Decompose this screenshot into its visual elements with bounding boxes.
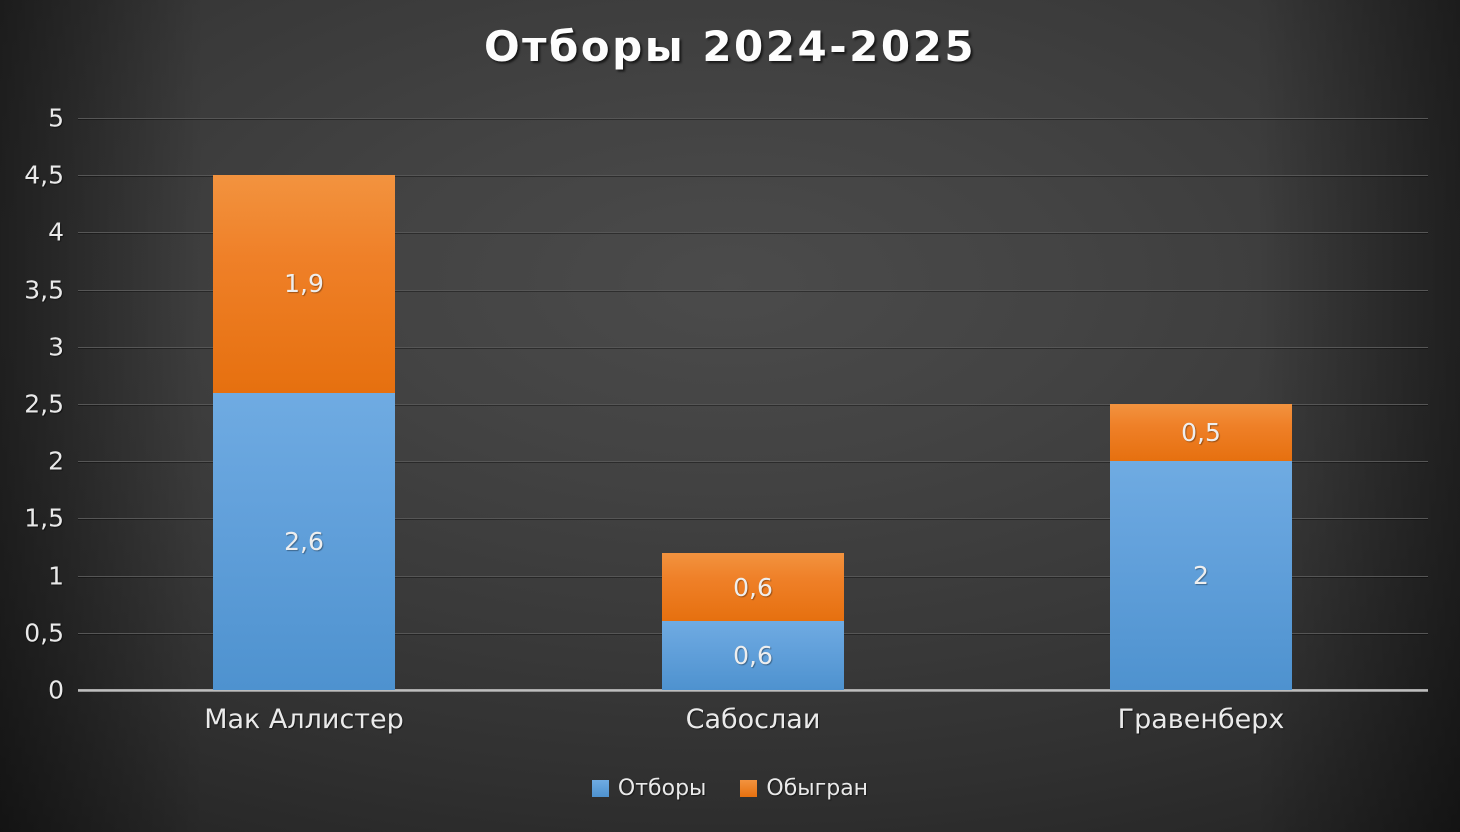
y-axis-tick-label: 2,5 bbox=[2, 390, 64, 419]
bar-group[interactable]: 20,5 bbox=[1110, 404, 1292, 690]
y-axis-tick-label: 4,5 bbox=[2, 161, 64, 190]
legend-label: Обыгран bbox=[766, 776, 868, 801]
legend-item-otbory[interactable]: Отборы bbox=[592, 776, 707, 801]
gridline bbox=[78, 118, 1428, 119]
legend-swatch-icon bbox=[592, 780, 609, 797]
bar-group[interactable]: 2,61,9 bbox=[213, 175, 395, 690]
y-axis-tick-label: 3 bbox=[2, 332, 64, 361]
bar-value-label: 0,6 bbox=[733, 573, 773, 602]
legend-item-obygran[interactable]: Обыгран bbox=[740, 776, 868, 801]
bar-value-label: 2,6 bbox=[284, 527, 324, 556]
y-axis-tick-label: 1 bbox=[2, 561, 64, 590]
y-axis-tick-label: 4 bbox=[2, 218, 64, 247]
bar-segment-obygran[interactable]: 1,9 bbox=[213, 175, 395, 392]
y-axis-tick-label: 0,5 bbox=[2, 618, 64, 647]
legend-swatch-icon bbox=[740, 780, 757, 797]
plot-area: 00,511,522,533,544,552,61,90,60,620,5 bbox=[78, 118, 1428, 690]
chart-legend: ОтборыОбыгран bbox=[0, 776, 1460, 801]
bar-segment-obygran[interactable]: 0,5 bbox=[1110, 404, 1292, 461]
x-axis-category-label: Сабослаи bbox=[512, 704, 994, 735]
bar-segment-obygran[interactable]: 0,6 bbox=[662, 553, 844, 622]
bar-segment-otbory[interactable]: 2,6 bbox=[213, 393, 395, 690]
y-axis-tick-label: 2 bbox=[2, 447, 64, 476]
legend-label: Отборы bbox=[618, 776, 707, 801]
y-axis-tick-label: 5 bbox=[2, 104, 64, 133]
y-axis-tick-label: 3,5 bbox=[2, 275, 64, 304]
bar-group[interactable]: 0,60,6 bbox=[662, 553, 844, 690]
y-axis-tick-label: 0 bbox=[2, 676, 64, 705]
x-axis-category-label: Мак Аллистер bbox=[63, 704, 545, 735]
chart-title: Отборы 2024-2025 bbox=[0, 22, 1460, 71]
bar-value-label: 1,9 bbox=[284, 269, 324, 298]
bar-value-label: 2 bbox=[1193, 561, 1209, 590]
y-axis-tick-label: 1,5 bbox=[2, 504, 64, 533]
bar-segment-otbory[interactable]: 0,6 bbox=[662, 621, 844, 690]
bar-segment-otbory[interactable]: 2 bbox=[1110, 461, 1292, 690]
bar-value-label: 0,6 bbox=[733, 641, 773, 670]
x-axis-category-label: Гравенберх bbox=[960, 704, 1442, 735]
bar-value-label: 0,5 bbox=[1181, 418, 1221, 447]
